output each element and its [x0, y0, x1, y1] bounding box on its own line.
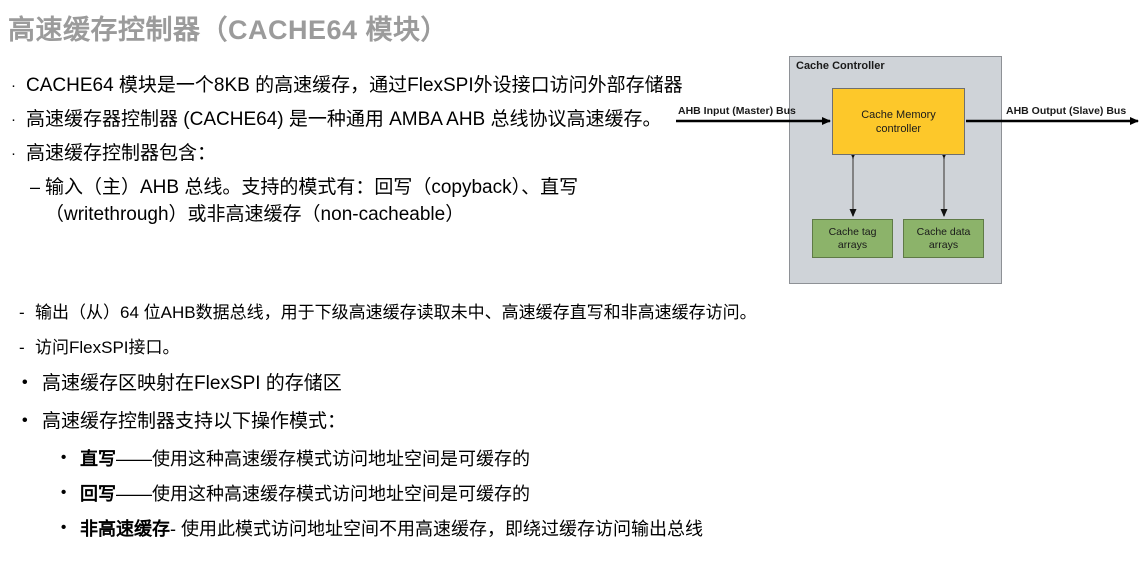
mode-item-text: 非高速缓存- 使用此模式访问地址空间不用高速缓存，即绕过缓存访问输出总线: [80, 516, 1060, 542]
content-bullet-list: · CACHE64 模块是一个8KB 的高速缓存，通过FlexSPI外设接口访问…: [0, 72, 690, 235]
mode-name: 回写: [80, 484, 116, 504]
cache-tag-arrays-block: Cache tag arrays: [812, 219, 893, 258]
list-item-text: 高速缓存控制器包含：: [26, 140, 690, 167]
cache-controller-block-diagram: Cache Controller Cache Memorycontroller …: [670, 50, 1145, 295]
cache-memory-controller-label-line1: Cache Memory: [861, 109, 936, 121]
cache-data-arrays-block: Cache data arrays: [903, 219, 984, 258]
diagram-connectors: [670, 50, 1145, 295]
mode-name: 直写: [80, 449, 116, 469]
list-item: · CACHE64 模块是一个8KB 的高速缓存，通过FlexSPI外设接口访问…: [0, 72, 690, 99]
content-bullet-list-lower: - 输出（从）64 位AHB数据总线，用于下级高速缓存读取未中、高速缓存直写和非…: [0, 300, 1060, 551]
ahb-input-bus-label: AHB Input (Master) Bus: [678, 105, 796, 117]
cache-memory-controller-label: Cache Memorycontroller: [861, 108, 936, 136]
list-item-text: 高速缓存控制器支持以下操作模式：: [42, 408, 1060, 435]
mode-item: • 直写——使用这种高速缓存模式访问地址空间是可缓存的: [0, 446, 1060, 472]
list-item-text: 访问FlexSPI接口。: [35, 335, 1060, 360]
bullet-marker-icon: ·: [11, 106, 16, 133]
bullet-marker-icon: •: [22, 369, 28, 396]
mode-description: ——使用这种高速缓存模式访问地址空间是可缓存的: [116, 484, 530, 504]
bullet-marker-icon: •: [61, 515, 66, 541]
page-title: 高速缓存控制器（CACHE64 模块）: [8, 8, 448, 47]
mode-item-text: 回写——使用这种高速缓存模式访问地址空间是可缓存的: [80, 481, 1060, 507]
bullet-marker-icon: -: [19, 335, 25, 360]
bullet-marker-icon: •: [61, 480, 66, 506]
list-item: • 高速缓存区映射在FlexSPI 的存储区: [0, 370, 1060, 397]
list-item: · 高速缓存控制器包含：: [0, 140, 690, 167]
list-item: – 输入（主）AHB 总线。支持的模式有：回写（copyback）、直写（wri…: [0, 174, 690, 228]
list-item-text: 输出（从）64 位AHB数据总线，用于下级高速缓存读取未中、高速缓存直写和非高速…: [35, 300, 1060, 325]
mode-description: - 使用此模式访问地址空间不用高速缓存，即绕过缓存访问输出总线: [170, 519, 703, 539]
bullet-marker-icon: -: [19, 300, 25, 325]
cache-data-arrays-label: Cache data arrays: [904, 226, 983, 252]
cache-tag-arrays-label: Cache tag arrays: [813, 226, 892, 252]
bullet-marker-icon: –: [30, 174, 40, 201]
list-item: · 高速缓存器控制器 (CACHE64) 是一种通用 AMBA AHB 总线协议…: [0, 106, 690, 133]
list-item: • 高速缓存控制器支持以下操作模式：: [0, 408, 1060, 435]
list-item-text: 高速缓存区映射在FlexSPI 的存储区: [42, 370, 1060, 397]
mode-description: ——使用这种高速缓存模式访问地址空间是可缓存的: [116, 449, 530, 469]
list-item: - 访问FlexSPI接口。: [0, 335, 1060, 360]
list-item: - 输出（从）64 位AHB数据总线，用于下级高速缓存读取未中、高速缓存直写和非…: [0, 300, 1060, 325]
bullet-marker-icon: •: [61, 445, 66, 471]
mode-item-text: 直写——使用这种高速缓存模式访问地址空间是可缓存的: [80, 446, 1060, 472]
list-item-text: CACHE64 模块是一个8KB 的高速缓存，通过FlexSPI外设接口访问外部…: [26, 72, 690, 99]
cache-memory-controller-block: Cache Memorycontroller: [832, 88, 965, 155]
mode-name: 非高速缓存: [80, 519, 170, 539]
bullet-marker-icon: •: [22, 407, 28, 434]
bullet-marker-icon: ·: [11, 140, 16, 167]
mode-item: • 回写——使用这种高速缓存模式访问地址空间是可缓存的: [0, 481, 1060, 507]
bullet-marker-icon: ·: [11, 72, 16, 99]
cache-memory-controller-label-line2: controller: [876, 123, 921, 135]
list-item-text: 输入（主）AHB 总线。支持的模式有：回写（copyback）、直写（write…: [45, 174, 690, 228]
ahb-output-bus-label: AHB Output (Slave) Bus: [1006, 105, 1126, 117]
mode-item: • 非高速缓存- 使用此模式访问地址空间不用高速缓存，即绕过缓存访问输出总线: [0, 516, 1060, 542]
list-item-text: 高速缓存器控制器 (CACHE64) 是一种通用 AMBA AHB 总线协议高速…: [26, 106, 690, 133]
